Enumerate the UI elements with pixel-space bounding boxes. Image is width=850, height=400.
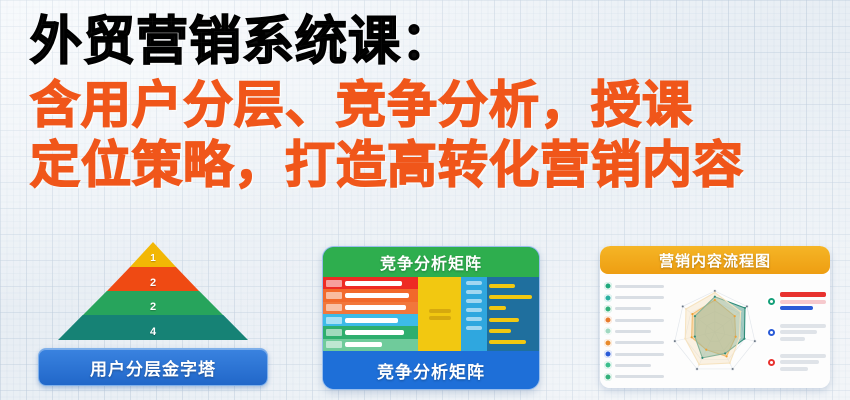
matrix-row-bar <box>345 330 404 335</box>
matrix-footer-title: 竞争分析矩阵 <box>323 351 539 389</box>
poster-canvas: 外贸营销系统课： 含用户分层、竞争分析，授课 定位策略，打造高转化营销内容 1 … <box>0 0 850 400</box>
matrix-left-column <box>323 277 418 351</box>
matrix-body <box>323 277 539 351</box>
pyramid-layer-4: 4 <box>58 315 248 340</box>
matrix-row-bar <box>345 293 409 298</box>
list-item-text <box>615 330 651 333</box>
legend-row <box>766 354 826 371</box>
matrix-right-bars <box>487 277 539 351</box>
legend-bar <box>780 324 826 328</box>
legend-row <box>766 324 826 341</box>
list-item-text <box>615 375 664 378</box>
marketing-flow-radar-card[interactable]: 营销内容流程图 <box>600 246 830 388</box>
list-item <box>604 327 664 335</box>
headline-line-3: 定位策略，打造高转化营销内容 <box>30 140 850 190</box>
gear-icon <box>766 296 777 307</box>
list-item <box>604 339 664 347</box>
bullet-dot-icon <box>604 327 612 335</box>
matrix-row <box>323 277 418 289</box>
radar-right-legend <box>766 279 826 384</box>
legend-bars <box>780 292 826 310</box>
pyramid-layer-1: 1 <box>130 242 176 267</box>
legend-bars <box>780 354 826 371</box>
matrix-row-bar <box>345 342 382 347</box>
matrix-row <box>323 339 418 351</box>
radar-chart-svg <box>666 282 764 382</box>
legend-bar <box>780 367 809 371</box>
legend-row <box>766 292 826 310</box>
headline-line-2: 含用户分层、竞争分析，授课 <box>30 80 850 130</box>
matrix-row-bar <box>345 305 406 310</box>
matrix-row-bar <box>345 281 402 286</box>
matrix-row <box>323 314 418 326</box>
matrix-row-chip <box>326 317 342 324</box>
matrix-row-bar <box>345 318 398 323</box>
pyramid-label-button[interactable]: 用户分层金字塔 <box>38 348 268 386</box>
headline-block: 外贸营销系统课： 含用户分层、竞争分析，授课 定位策略，打造高转化营销内容 <box>30 16 850 190</box>
matrix-header-title: 竞争分析矩阵 <box>323 247 539 277</box>
matrix-right-panel <box>461 277 539 351</box>
list-item-text <box>615 353 664 356</box>
bullet-dot-icon <box>604 350 612 358</box>
matrix-row-chip <box>326 304 342 311</box>
gear-icon <box>766 327 777 338</box>
list-item-text <box>615 364 651 367</box>
legend-bar <box>780 360 819 364</box>
matrix-value-bar <box>489 318 519 322</box>
matrix-center-panel <box>418 277 461 351</box>
bullet-dot-icon <box>604 316 612 324</box>
bullet-dot-icon <box>604 282 612 290</box>
list-item-text <box>615 341 664 344</box>
radar-body <box>600 274 830 388</box>
pyramid-layer-4-number: 4 <box>150 326 156 338</box>
list-item <box>604 282 664 290</box>
user-tier-pyramid-card: 1 2 2 4 用户分层金字塔 <box>38 242 268 392</box>
pyramid-layer-3-number: 2 <box>150 301 156 313</box>
radar-header-title: 营销内容流程图 <box>600 246 830 274</box>
list-item <box>604 294 664 302</box>
matrix-value-bar <box>489 284 515 288</box>
matrix-row <box>323 289 418 301</box>
bullet-dot-icon <box>604 339 612 347</box>
gear-icon <box>766 357 777 368</box>
matrix-value-bar <box>489 306 506 310</box>
legend-bar <box>780 354 826 358</box>
list-item-text <box>615 285 664 288</box>
matrix-value-bar <box>489 295 532 299</box>
pyramid-layer-3: 2 <box>83 291 223 315</box>
list-item-text <box>615 307 651 310</box>
bullet-dot-icon <box>604 361 612 369</box>
bullet-dot-icon <box>604 373 612 381</box>
list-item-text <box>615 319 664 322</box>
matrix-center-text-lines <box>429 309 451 320</box>
legend-bar-accent <box>780 292 826 297</box>
pyramid-layer-2-number: 2 <box>150 277 156 289</box>
pyramid-graphic: 1 2 2 4 <box>38 242 268 340</box>
radar-left-list <box>604 279 664 384</box>
legend-bar <box>780 337 805 341</box>
matrix-row <box>323 302 418 314</box>
legend-bar <box>780 330 817 334</box>
legend-bars <box>780 324 826 341</box>
bullet-dot-icon <box>604 294 612 302</box>
matrix-value-bar <box>489 340 526 344</box>
legend-bar <box>780 300 826 304</box>
matrix-row-chip <box>326 292 342 299</box>
bullet-dot-icon <box>604 305 612 313</box>
list-item <box>604 361 664 369</box>
matrix-right-labels <box>461 277 487 351</box>
list-item <box>604 350 664 358</box>
pyramid-layer-1-number: 1 <box>150 253 156 264</box>
card-row: 1 2 2 4 用户分层金字塔 竞争分析矩阵 <box>0 240 850 400</box>
list-item <box>604 373 664 381</box>
matrix-row-chip <box>326 329 342 336</box>
list-item <box>604 316 664 324</box>
headline-line-1: 外贸营销系统课： <box>30 16 850 68</box>
list-item <box>604 305 664 313</box>
pyramid-layer-2: 2 <box>107 267 199 291</box>
matrix-value-bar <box>489 329 511 333</box>
matrix-row-chip <box>326 341 342 348</box>
legend-bar-accent <box>780 306 813 310</box>
matrix-row <box>323 326 418 338</box>
list-item-text <box>615 296 664 299</box>
matrix-row-chip <box>326 280 342 287</box>
radar-chart <box>666 279 764 384</box>
competition-matrix-card[interactable]: 竞争分析矩阵 <box>322 246 540 390</box>
